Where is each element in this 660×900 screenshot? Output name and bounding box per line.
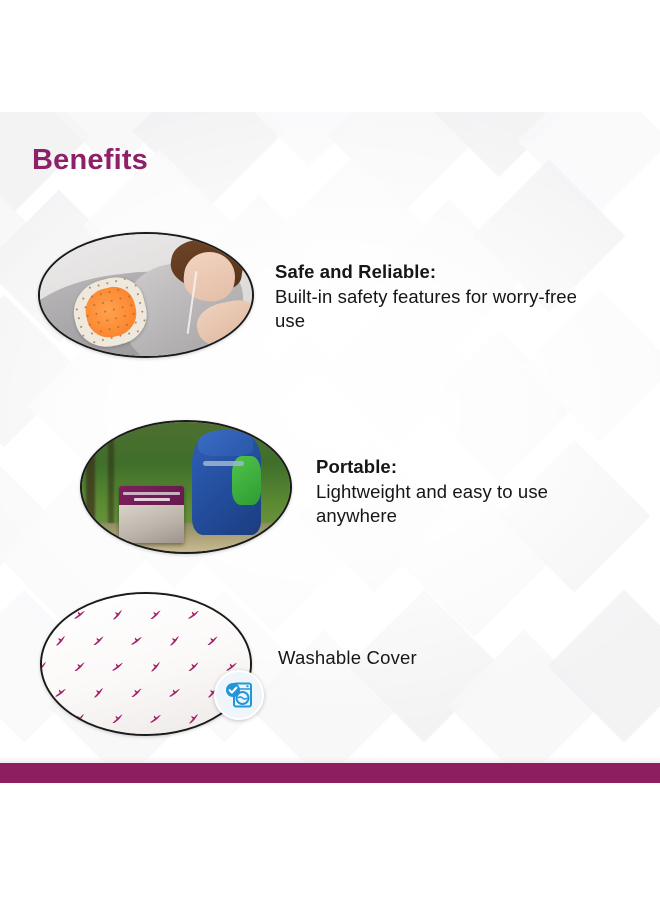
bird-motif [204, 633, 221, 648]
benefit-image-1 [38, 232, 254, 358]
machine-washable-badge [214, 670, 264, 720]
bird-motif [166, 592, 183, 596]
bird-motif [185, 710, 203, 726]
bird-motif [166, 632, 184, 648]
bird-motif [110, 660, 125, 674]
bird-motif [109, 606, 127, 622]
bird-motif [148, 712, 163, 726]
bird-motif [205, 592, 220, 595]
bird-motif [128, 685, 145, 700]
bird-motif [52, 632, 70, 648]
bird-motif [71, 659, 88, 674]
bird-motif [40, 607, 50, 622]
benefit-heading-1: Safe and Reliable: [275, 260, 605, 285]
benefit-text-1: Safe and Reliable: Built-in safety featu… [275, 260, 605, 334]
bird-motif [52, 592, 69, 596]
bird-motif [109, 711, 126, 726]
bird-motif [147, 658, 165, 674]
bird-motif [128, 592, 146, 597]
washing-machine-check-icon [223, 679, 255, 711]
bird-motif [90, 684, 108, 700]
benefit-heading-2: Portable: [316, 455, 628, 480]
benefit-text-3: Washable Cover [278, 646, 578, 671]
bird-motif [186, 608, 201, 622]
bird-motif [53, 686, 68, 700]
bird-motif [167, 686, 182, 700]
bird-motif [40, 712, 49, 726]
bird-motif [72, 608, 87, 622]
bird-motif [223, 606, 241, 622]
page-title: Benefits [32, 146, 148, 175]
bird-motif [40, 658, 51, 674]
bird-motif [147, 607, 164, 622]
benefit-body-2: Lightweight and easy to use anywhere [316, 480, 628, 529]
bird-motif [91, 592, 106, 595]
benefits-infographic: Benefits Safe and Reliable: Built-in saf… [0, 0, 660, 900]
bottom-accent-bar [0, 763, 660, 783]
benefit-image-2 [80, 420, 292, 554]
benefit-text-2: Portable: Lightweight and easy to use an… [316, 455, 628, 529]
benefit-heading-3: Washable Cover [278, 647, 417, 668]
bird-print-pattern [40, 592, 252, 736]
bird-motif [185, 659, 202, 674]
benefit-image-3 [40, 592, 252, 736]
benefit-body-1: Built-in safety features for worry-free … [275, 285, 605, 334]
bird-motif [71, 710, 89, 726]
bird-motif [129, 634, 144, 648]
bird-motif [90, 633, 107, 648]
